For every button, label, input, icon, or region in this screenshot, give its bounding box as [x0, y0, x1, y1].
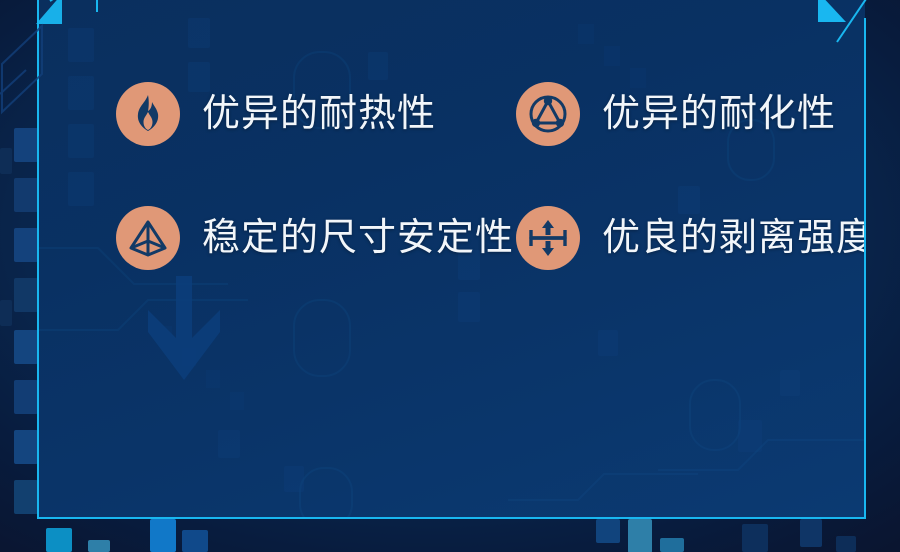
pyramid-icon	[116, 206, 180, 270]
feature-label: 优异的耐化性	[602, 95, 836, 133]
peel-strength-icon	[516, 206, 580, 270]
decor-block	[742, 524, 768, 552]
feature-row: 优异的耐热性 优异的耐化性	[116, 52, 865, 176]
feature-row: 稳定的尺寸安定性 优良的剥离强度	[116, 176, 865, 300]
feature-grid: 优异的耐热性 优异的耐化性	[116, 52, 865, 300]
decor-block	[150, 519, 176, 552]
feature-item-dimensional-stability[interactable]: 稳定的尺寸安定性	[116, 206, 516, 270]
flame-icon	[116, 82, 180, 146]
frame-line-right	[864, 18, 866, 519]
decor-block	[628, 519, 652, 552]
content-panel: 优异的耐热性 优异的耐化性	[38, 0, 865, 519]
feature-item-heat-resistance[interactable]: 优异的耐热性	[116, 82, 516, 146]
decor-block	[14, 480, 38, 514]
feature-label: 稳定的尺寸安定性	[202, 219, 514, 257]
feature-label: 优异的耐热性	[202, 95, 436, 133]
decor-block	[0, 300, 12, 326]
molecule-triangle-icon	[516, 82, 580, 146]
decor-block	[182, 530, 208, 552]
decor-block	[660, 538, 684, 552]
decor-block	[14, 380, 38, 414]
feature-item-peel-strength[interactable]: 优良的剥离强度	[516, 206, 865, 270]
decor-block	[46, 528, 72, 552]
decor-block	[14, 278, 38, 312]
decor-block	[596, 519, 620, 543]
decor-block	[14, 228, 38, 262]
decor-block	[14, 178, 38, 212]
decor-block	[88, 540, 110, 552]
feature-label: 优良的剥离强度	[602, 219, 865, 257]
decor-block	[0, 148, 12, 174]
decor-block	[14, 430, 38, 464]
decor-block	[800, 519, 822, 547]
slide-canvas: 优异的耐热性 优异的耐化性	[0, 0, 900, 552]
decor-block	[836, 536, 856, 552]
feature-item-chemical-resistance[interactable]: 优异的耐化性	[516, 82, 865, 146]
frame-line-bottom	[37, 517, 866, 519]
decor-wireframe	[0, 20, 120, 150]
decor-block	[14, 330, 38, 364]
